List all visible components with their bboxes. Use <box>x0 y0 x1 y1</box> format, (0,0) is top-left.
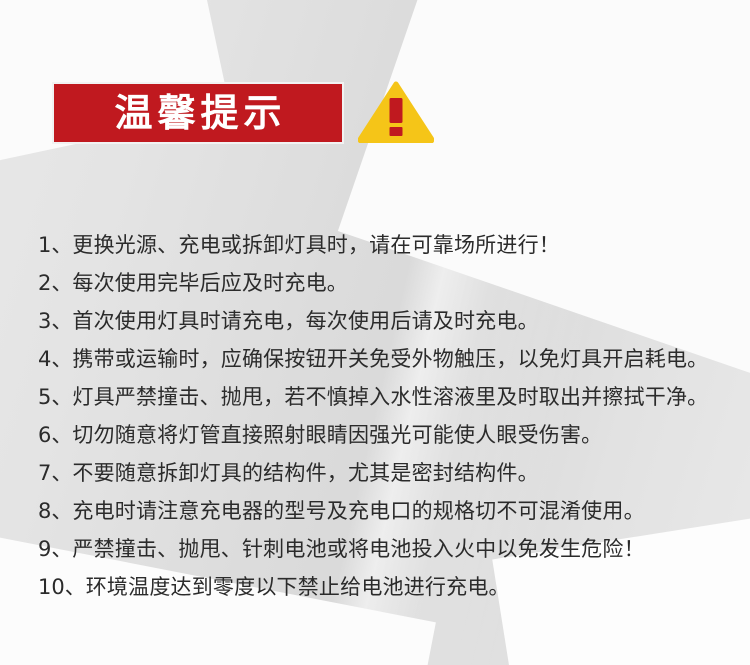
list-item-number: 8、 <box>38 492 72 530</box>
list-item: 1、 更换光源、充电或拆卸灯具时，请在可靠场所进行！ <box>38 226 738 264</box>
list-item-number: 5、 <box>38 378 72 416</box>
list-item-number: 6、 <box>38 416 72 454</box>
list-item: 7、 不要随意拆卸灯具的结构件，尤其是密封结构件。 <box>38 454 738 492</box>
list-item-text: 灯具严禁撞击、抛甩，若不慎掉入水性溶液里及时取出并擦拭干净。 <box>72 378 708 416</box>
list-item: 9、 严禁撞击、抛甩、针刺电池或将电池投入火中以免发生危险！ <box>38 530 738 568</box>
list-item-number: 10、 <box>38 568 86 606</box>
list-item: 8、 充电时请注意充电器的型号及充电口的规格切不可混淆使用。 <box>38 492 738 530</box>
list-item-number: 7、 <box>38 454 72 492</box>
list-item-text: 更换光源、充电或拆卸灯具时，请在可靠场所进行！ <box>72 226 560 264</box>
list-item-number: 2、 <box>38 264 72 302</box>
page-header: 温馨提示 <box>0 78 750 150</box>
page-title: 温馨提示 <box>109 94 286 132</box>
list-item-text: 携带或运输时，应确保按钮开关免受外物触压，以免灯具开启耗电。 <box>72 340 708 378</box>
list-item-text: 严禁撞击、抛甩、针刺电池或将电池投入火中以免发生危险！ <box>72 530 644 568</box>
title-banner: 温馨提示 <box>52 82 344 144</box>
list-item-number: 4、 <box>38 340 72 378</box>
list-item: 3、 首次使用灯具时请充电，每次使用后请及时充电。 <box>38 302 738 340</box>
list-item-number: 9、 <box>38 530 72 568</box>
warning-triangle-exclamation-icon <box>358 81 434 143</box>
list-item-text: 环境温度达到零度以下禁止给电池进行充电。 <box>86 568 510 606</box>
tips-page: 温馨提示 1、 更换光源、充电或拆卸灯具时，请在可靠场所进行！ 2、 每次使用完… <box>0 0 750 665</box>
list-item: 5、 灯具严禁撞击、抛甩，若不慎掉入水性溶液里及时取出并擦拭干净。 <box>38 378 738 416</box>
list-item-text: 切勿随意将灯管直接照射眼睛因强光可能使人眼受伤害。 <box>72 416 602 454</box>
list-item: 6、 切勿随意将灯管直接照射眼睛因强光可能使人眼受伤害。 <box>38 416 738 454</box>
list-item: 10、 环境温度达到零度以下禁止给电池进行充电。 <box>38 568 738 606</box>
list-item-number: 3、 <box>38 302 72 340</box>
notice-list: 1、 更换光源、充电或拆卸灯具时，请在可靠场所进行！ 2、 每次使用完毕后应及时… <box>38 226 738 606</box>
list-item: 2、 每次使用完毕后应及时充电。 <box>38 264 738 302</box>
list-item-text: 不要随意拆卸灯具的结构件，尤其是密封结构件。 <box>72 454 538 492</box>
list-item-text: 首次使用灯具时请充电，每次使用后请及时充电。 <box>72 302 538 340</box>
list-item-number: 1、 <box>38 226 72 264</box>
list-item-text: 充电时请注意充电器的型号及充电口的规格切不可混淆使用。 <box>72 492 644 530</box>
list-item: 4、 携带或运输时，应确保按钮开关免受外物触压，以免灯具开启耗电。 <box>38 340 738 378</box>
list-item-text: 每次使用完毕后应及时充电。 <box>72 264 348 302</box>
